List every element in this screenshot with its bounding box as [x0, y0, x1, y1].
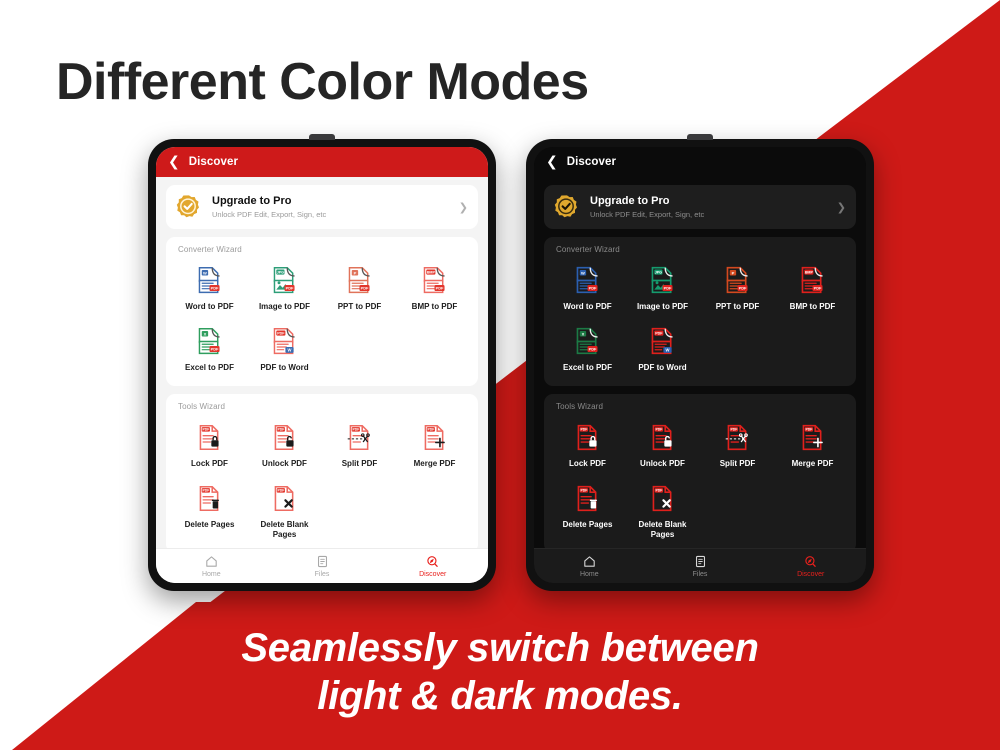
split-pdf-icon: PDF — [345, 421, 374, 454]
word-to-pdf-icon: W PDF — [194, 264, 225, 297]
grid-item-label: Delete Pages — [185, 520, 235, 530]
svg-text:PDF: PDF — [655, 428, 662, 432]
image-to-pdf-icon: JPG PDF — [647, 264, 678, 297]
pro-card-subtitle: Unlock PDF Edit, Export, Sign, etc — [212, 209, 453, 220]
tab-discover[interactable]: Discover — [755, 555, 866, 578]
svg-text:PDF: PDF — [202, 489, 209, 493]
svg-text:P: P — [354, 270, 357, 275]
grid-item-pdf-to-word[interactable]: PDF W PDF to Word — [625, 319, 700, 380]
grid-item-label: Image to PDF — [259, 302, 310, 312]
tab-files[interactable]: Files — [267, 555, 378, 578]
discover-icon — [804, 555, 817, 569]
grid-item-label: Delete Pages — [563, 520, 613, 530]
back-chevron-icon[interactable]: ❮ — [168, 155, 180, 169]
grid-item-excel-to-pdf[interactable]: X PDF Excel to PDF — [550, 319, 625, 380]
caption-line-2: light & dark modes. — [0, 672, 1000, 720]
grid-item-label: Merge PDF — [792, 459, 834, 469]
pro-card-subtitle: Unlock PDF Edit, Export, Sign, etc — [590, 209, 831, 220]
svg-text:PDF: PDF — [211, 347, 219, 352]
pro-card-title: Upgrade to Pro — [212, 194, 453, 208]
svg-text:PDF: PDF — [655, 489, 662, 493]
converter-grid: W PDF Word to PDF — [550, 258, 850, 380]
grid-item-delete-pages[interactable]: PDF Delete Pages — [550, 476, 625, 547]
tablet-light: ❮ Discover Upgrade to Pro Unlock PDF Edi… — [148, 139, 496, 591]
svg-text:X: X — [204, 331, 207, 336]
svg-text:BMP: BMP — [805, 271, 814, 275]
grid-item-bmp-to-pdf[interactable]: BMP PDF BMP to PDF — [397, 258, 472, 319]
merge-pdf-icon: PDF — [798, 421, 827, 454]
split-pdf-icon: PDF — [723, 421, 752, 454]
svg-text:JPG: JPG — [277, 271, 284, 275]
camera-icon — [687, 134, 713, 140]
svg-text:PDF: PDF — [805, 428, 812, 432]
section-converter-wizard: Converter Wizard W — [544, 237, 856, 386]
svg-text:W: W — [203, 270, 207, 275]
tab-discover[interactable]: Discover — [377, 555, 488, 578]
tools-grid: PDF Lock PDF — [172, 415, 472, 547]
grid-item-label: Excel to PDF — [185, 363, 234, 373]
tab-label: Discover — [419, 571, 446, 578]
svg-text:PDF: PDF — [730, 428, 737, 432]
grid-item-label: PPT to PDF — [338, 302, 382, 312]
upgrade-to-pro-card[interactable]: Upgrade to Pro Unlock PDF Edit, Export, … — [544, 185, 856, 229]
delete-pages-icon: PDF — [573, 482, 602, 515]
svg-text:PDF: PDF — [655, 332, 663, 336]
header-title: Discover — [567, 156, 616, 168]
grid-item-label: PDF to Word — [638, 363, 686, 373]
grid-item-label: Word to PDF — [185, 302, 233, 312]
pro-card-title: Upgrade to Pro — [590, 194, 831, 208]
grid-item-label: Word to PDF — [563, 302, 611, 312]
grid-item-label: Split PDF — [342, 459, 378, 469]
svg-text:PDF: PDF — [589, 286, 597, 291]
tab-files[interactable]: Files — [645, 555, 756, 578]
chevron-right-icon[interactable]: ❯ — [459, 201, 468, 214]
grid-item-delete-blank-pages[interactable]: PDF Delete Blank Pages — [247, 476, 322, 547]
svg-text:PDF: PDF — [202, 428, 209, 432]
app-header-light: ❮ Discover — [156, 147, 488, 177]
section-converter-wizard: Converter Wizard W — [166, 237, 478, 386]
grid-item-label: Delete Blank Pages — [249, 520, 320, 540]
grid-item-bmp-to-pdf[interactable]: BMP PDF BMP to PDF — [775, 258, 850, 319]
pro-card-text: Upgrade to Pro Unlock PDF Edit, Export, … — [212, 194, 453, 220]
chevron-right-icon[interactable]: ❯ — [837, 201, 846, 214]
grid-item-unlock-pdf[interactable]: PDF Unlock PDF — [625, 415, 700, 476]
camera-icon — [309, 134, 335, 140]
gold-verified-badge-icon — [554, 194, 580, 220]
tab-label: Files — [315, 571, 330, 578]
grid-item-lock-pdf[interactable]: PDF Lock PDF — [550, 415, 625, 476]
tab-label: Home — [202, 571, 221, 578]
gold-verified-badge-icon — [176, 194, 202, 220]
delete-blank-pages-icon: PDF — [270, 482, 299, 515]
grid-item-excel-to-pdf[interactable]: X PDF Excel to PDF — [172, 319, 247, 380]
grid-item-label: PPT to PDF — [716, 302, 760, 312]
ppt-to-pdf-icon: P PDF — [344, 264, 375, 297]
content-scroll-dark[interactable]: Upgrade to Pro Unlock PDF Edit, Export, … — [534, 177, 866, 548]
svg-text:JPG: JPG — [655, 271, 662, 275]
svg-text:PDF: PDF — [277, 489, 284, 493]
section-title: Converter Wizard — [178, 245, 472, 254]
unlock-pdf-icon: PDF — [648, 421, 677, 454]
grid-item-split-pdf[interactable]: PDF Split PDF — [700, 415, 775, 476]
svg-text:PDF: PDF — [580, 428, 587, 432]
home-icon — [583, 555, 596, 569]
svg-text:PDF: PDF — [361, 286, 369, 291]
tab-home[interactable]: Home — [156, 555, 267, 578]
grid-item-label: Unlock PDF — [262, 459, 307, 469]
back-chevron-icon[interactable]: ❮ — [546, 155, 558, 169]
pro-card-text: Upgrade to Pro Unlock PDF Edit, Export, … — [590, 194, 831, 220]
svg-text:PDF: PDF — [277, 332, 285, 336]
grid-item-pdf-to-word[interactable]: PDF W PDF to Word — [247, 319, 322, 380]
section-title: Converter Wizard — [556, 245, 850, 254]
tab-label: Home — [580, 571, 599, 578]
svg-text:PDF: PDF — [286, 286, 294, 291]
caption-line-1: Seamlessly switch between — [0, 624, 1000, 672]
page-title: Different Color Modes — [56, 52, 589, 112]
header-title: Discover — [189, 156, 238, 168]
screen-light: ❮ Discover Upgrade to Pro Unlock PDF Edi… — [156, 147, 488, 583]
grid-item-split-pdf[interactable]: PDF Split PDF — [322, 415, 397, 476]
section-tools-wizard: Tools Wizard PDF — [544, 394, 856, 548]
grid-item-label: Unlock PDF — [640, 459, 685, 469]
tools-grid: PDF Lock PDF — [550, 415, 850, 547]
ppt-to-pdf-icon: P PDF — [722, 264, 753, 297]
grid-item-label: Merge PDF — [414, 459, 456, 469]
svg-text:PDF: PDF — [580, 489, 587, 493]
grid-item-word-to-pdf[interactable]: W PDF Word to PDF — [550, 258, 625, 319]
section-title: Tools Wizard — [556, 402, 850, 411]
tab-bar-light: Home Files Discover — [156, 548, 488, 583]
converter-grid: W PDF Word to PDF — [172, 258, 472, 380]
grid-item-ppt-to-pdf[interactable]: P PDF PPT to PDF — [322, 258, 397, 319]
svg-text:PDF: PDF — [739, 286, 747, 291]
bmp-to-pdf-icon: BMP PDF — [419, 264, 450, 297]
svg-text:PDF: PDF — [352, 428, 359, 432]
svg-text:PDF: PDF — [211, 286, 219, 291]
home-icon — [205, 555, 218, 569]
grid-item-label: Lock PDF — [569, 459, 606, 469]
tab-label: Discover — [797, 571, 824, 578]
section-title: Tools Wizard — [178, 402, 472, 411]
grid-item-label: Lock PDF — [191, 459, 228, 469]
svg-text:X: X — [582, 331, 585, 336]
grid-item-word-to-pdf[interactable]: W PDF Word to PDF — [172, 258, 247, 319]
discover-icon — [426, 555, 439, 569]
grid-item-image-to-pdf[interactable]: JPG PDF Image to PDF — [625, 258, 700, 319]
grid-item-label: Excel to PDF — [563, 363, 612, 373]
tablet-dark: ❮ Discover Upgrade to Pro Unlock PDF Edi… — [526, 139, 874, 591]
merge-pdf-icon: PDF — [420, 421, 449, 454]
svg-text:W: W — [288, 348, 292, 353]
tab-home[interactable]: Home — [534, 555, 645, 578]
svg-text:P: P — [732, 270, 735, 275]
image-to-pdf-icon: JPG PDF — [269, 264, 300, 297]
grid-item-label: Image to PDF — [637, 302, 688, 312]
grid-item-unlock-pdf[interactable]: PDF Unlock PDF — [247, 415, 322, 476]
tab-bar-dark: Home Files Discover — [534, 548, 866, 583]
grid-item-label: Split PDF — [720, 459, 756, 469]
delete-blank-pages-icon: PDF — [648, 482, 677, 515]
caption: Seamlessly switch between light & dark m… — [0, 624, 1000, 720]
svg-text:PDF: PDF — [589, 347, 597, 352]
files-icon — [316, 555, 329, 569]
svg-text:PDF: PDF — [427, 428, 434, 432]
grid-item-ppt-to-pdf[interactable]: P PDF PPT to PDF — [700, 258, 775, 319]
upgrade-to-pro-card[interactable]: Upgrade to Pro Unlock PDF Edit, Export, … — [166, 185, 478, 229]
grid-item-label: PDF to Word — [260, 363, 308, 373]
svg-text:PDF: PDF — [814, 286, 822, 291]
grid-item-merge-pdf[interactable]: PDF Merge PDF — [775, 415, 850, 476]
svg-text:W: W — [666, 348, 670, 353]
excel-to-pdf-icon: X PDF — [194, 325, 225, 358]
grid-item-label: BMP to PDF — [790, 302, 836, 312]
grid-item-delete-blank-pages[interactable]: PDF Delete Blank Pages — [625, 476, 700, 547]
bmp-to-pdf-icon: BMP PDF — [797, 264, 828, 297]
svg-text:W: W — [581, 270, 585, 275]
grid-item-label: BMP to PDF — [412, 302, 458, 312]
lock-pdf-icon: PDF — [195, 421, 224, 454]
delete-pages-icon: PDF — [195, 482, 224, 515]
grid-item-label: Delete Blank Pages — [627, 520, 698, 540]
unlock-pdf-icon: PDF — [270, 421, 299, 454]
files-icon — [694, 555, 707, 569]
excel-to-pdf-icon: X PDF — [572, 325, 603, 358]
grid-item-merge-pdf[interactable]: PDF Merge PDF — [397, 415, 472, 476]
app-header-dark: ❮ Discover — [534, 147, 866, 177]
pdf-to-word-icon: PDF W — [647, 325, 678, 358]
svg-text:PDF: PDF — [277, 428, 284, 432]
screen-dark: ❮ Discover Upgrade to Pro Unlock PDF Edi… — [534, 147, 866, 583]
content-scroll-light[interactable]: Upgrade to Pro Unlock PDF Edit, Export, … — [156, 177, 488, 548]
svg-text:BMP: BMP — [427, 271, 436, 275]
lock-pdf-icon: PDF — [573, 421, 602, 454]
section-tools-wizard: Tools Wizard PDF — [166, 394, 478, 548]
grid-item-image-to-pdf[interactable]: JPG PDF Image to PDF — [247, 258, 322, 319]
svg-text:PDF: PDF — [664, 286, 672, 291]
word-to-pdf-icon: W PDF — [572, 264, 603, 297]
grid-item-delete-pages[interactable]: PDF Delete Pages — [172, 476, 247, 547]
tab-label: Files — [693, 571, 708, 578]
pdf-to-word-icon: PDF W — [269, 325, 300, 358]
svg-text:PDF: PDF — [436, 286, 444, 291]
grid-item-lock-pdf[interactable]: PDF Lock PDF — [172, 415, 247, 476]
